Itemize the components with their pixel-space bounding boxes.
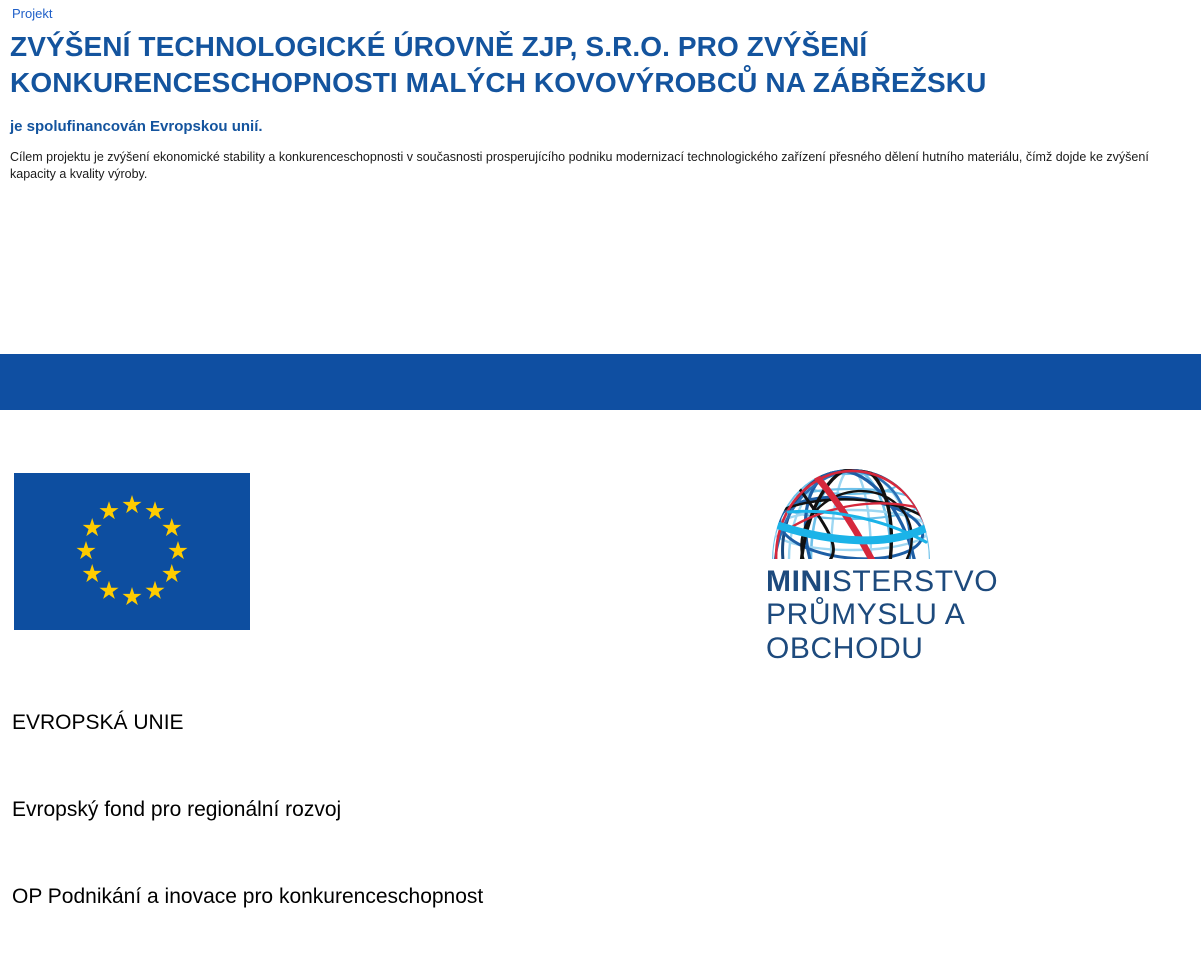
project-description: Cílem projektu je zvýšení ekonomické sta… [10, 149, 1195, 183]
page-title: ZVÝŠENÍ TECHNOLOGICKÉ ÚROVNĚ ZJP, S.R.O.… [10, 29, 1190, 101]
ministry-line-1-rest: STERSTVO [832, 565, 999, 598]
ministry-line-1: MINISTERSTVO [766, 566, 1126, 598]
ministry-line-2: PRŮMYSLU A OBCHODU [766, 598, 1126, 666]
eyebrow-label: Projekt [12, 6, 1195, 22]
eu-flag [14, 473, 250, 630]
eu-caption-line-2: Evropský fond pro regionální rozvoj [12, 795, 483, 824]
eu-caption: EVROPSKÁ UNIE Evropský fond pro regionál… [12, 650, 483, 969]
eu-stars-icon [14, 473, 250, 630]
logo-row: EVROPSKÁ UNIE Evropský fond pro regionál… [0, 460, 1201, 760]
page-root: Projekt ZVÝŠENÍ TECHNOLOGICKÉ ÚROVNĚ ZJP… [0, 0, 1201, 760]
project-content: Projekt ZVÝŠENÍ TECHNOLOGICKÉ ÚROVNĚ ZJP… [10, 6, 1195, 183]
ministry-line-1-accent: MINI [766, 565, 832, 598]
globe-icon [770, 468, 932, 560]
ministry-logo: MINISTERSTVO PRŮMYSLU A OBCHODU [766, 468, 1126, 666]
eu-caption-line-3: OP Podnikání a inovace pro konkurencesch… [12, 882, 483, 911]
blue-divider-band [0, 354, 1201, 410]
ministry-wordmark: MINISTERSTVO PRŮMYSLU A OBCHODU [766, 566, 1126, 666]
project-subtitle: je spolufinancován Evropskou unií. [10, 117, 1195, 137]
eu-caption-line-1: EVROPSKÁ UNIE [12, 708, 483, 737]
